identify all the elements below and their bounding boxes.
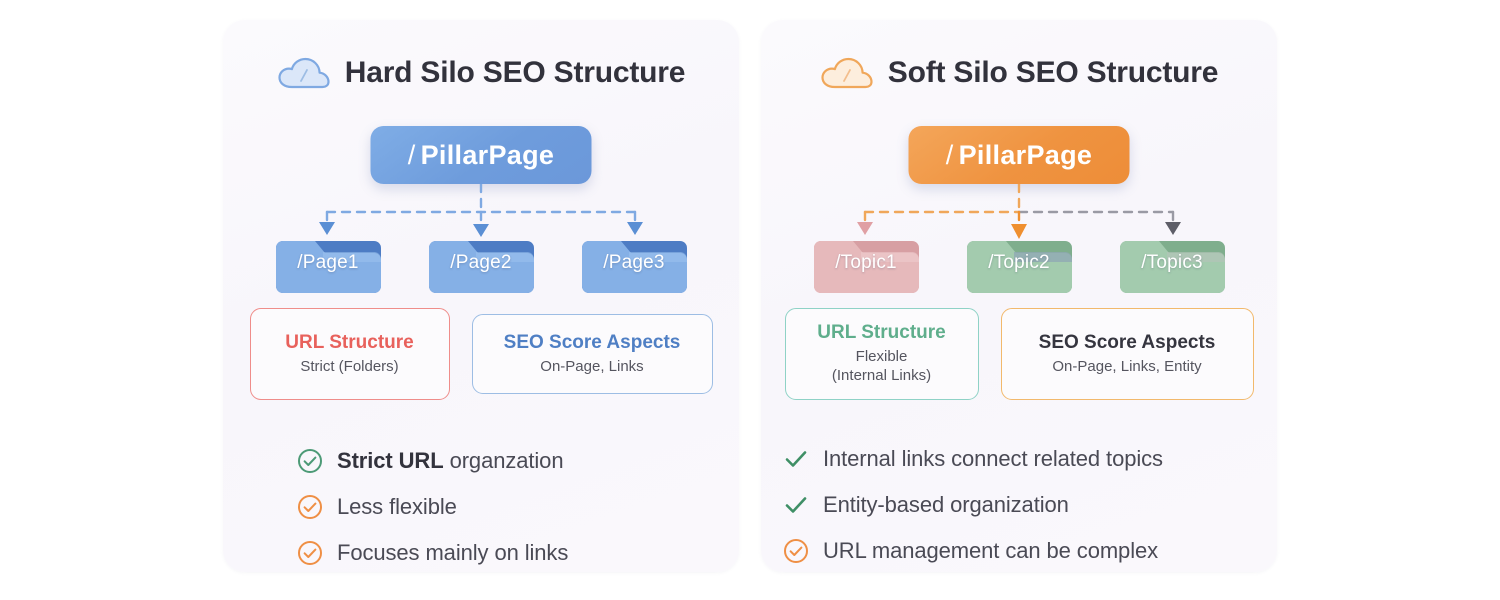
info-box-title: URL Structure xyxy=(285,332,413,354)
check-circle-orange-icon xyxy=(297,494,323,520)
info-box-url-structure: URL Structure Flexible (Internal Links) xyxy=(785,308,979,400)
panel-header: Hard Silo SEO Structure xyxy=(223,56,739,90)
check-green-icon xyxy=(783,492,809,518)
check-circle-green-icon xyxy=(297,448,323,474)
panel-title: Soft Silo SEO Structure xyxy=(888,56,1218,90)
info-box-title: SEO Score Aspects xyxy=(504,332,681,354)
check-green-icon xyxy=(783,446,809,472)
pillar-label: PillarPage xyxy=(959,140,1093,171)
folder-node[interactable]: /Page3 xyxy=(581,236,688,294)
info-box-subtitle: Strict (Folders) xyxy=(300,358,398,377)
bullet-item: Internal links connect related topics xyxy=(783,436,1277,482)
folder-node[interactable]: /Page1 xyxy=(275,236,382,294)
panel-title: Hard Silo SEO Structure xyxy=(345,56,685,90)
diagram-canvas: Hard Silo SEO Structure /PillarPage xyxy=(0,0,1500,600)
folder-row-soft: /Topic1 /Topic2 /Topic3 xyxy=(761,236,1277,294)
bullet-item: Less flexible xyxy=(297,484,739,530)
cloud-icon xyxy=(277,56,331,90)
folder-node[interactable]: /Topic2 xyxy=(966,236,1073,294)
info-box-seo-score: SEO Score Aspects On-Page, Links xyxy=(472,314,713,394)
panel-hard-silo: Hard Silo SEO Structure /PillarPage xyxy=(223,20,739,572)
pillar-page-node[interactable]: /PillarPage xyxy=(909,126,1130,184)
info-box-title: URL Structure xyxy=(817,322,945,344)
bullet-item: Strict URL organzation xyxy=(297,438,739,484)
bullet-text: Internal links connect related topics xyxy=(823,446,1163,472)
cloud-icon xyxy=(820,56,874,90)
panel-soft-silo: Soft Silo SEO Structure /PillarPage xyxy=(761,20,1277,572)
bullet-item: Focuses mainly on links xyxy=(297,530,739,576)
bullet-text: Entity-based organization xyxy=(823,492,1069,518)
panel-header: Soft Silo SEO Structure xyxy=(761,56,1277,90)
bullet-text: Less flexible xyxy=(337,494,457,520)
bullet-rest: organzation xyxy=(444,448,564,473)
bullet-text: Strict URL organzation xyxy=(337,448,563,474)
pillar-page-node[interactable]: /PillarPage xyxy=(371,126,592,184)
info-row-soft: URL Structure Flexible (Internal Links) … xyxy=(761,308,1277,400)
check-circle-orange-icon xyxy=(297,540,323,566)
pillar-label: PillarPage xyxy=(421,140,555,171)
bullet-item: URL management can be complex xyxy=(783,528,1277,574)
info-box-subtitle: Flexible (Internal Links) xyxy=(832,348,931,386)
folder-node[interactable]: /Page2 xyxy=(428,236,535,294)
check-circle-orange-icon xyxy=(783,538,809,564)
bullet-item: Entity-based organization xyxy=(783,482,1277,528)
folder-node[interactable]: /Topic3 xyxy=(1119,236,1226,294)
info-box-url-structure: URL Structure Strict (Folders) xyxy=(250,308,450,400)
bullet-list-soft: Internal links connect related topics En… xyxy=(761,436,1277,574)
info-row-hard: URL Structure Strict (Folders) SEO Score… xyxy=(223,308,739,400)
pillar-slash: / xyxy=(408,140,416,171)
info-box-seo-score: SEO Score Aspects On-Page, Links, Entity xyxy=(1001,308,1254,400)
bullet-text: Focuses mainly on links xyxy=(337,540,568,566)
info-box-subtitle: On-Page, Links, Entity xyxy=(1052,358,1201,377)
folder-node[interactable]: /Topic1 xyxy=(813,236,920,294)
bullet-text: URL management can be complex xyxy=(823,538,1158,564)
info-box-title: SEO Score Aspects xyxy=(1039,332,1216,354)
folder-row-hard: /Page1 /Page2 /Page3 xyxy=(223,236,739,294)
bullet-list-hard: Strict URL organzation Less flexible xyxy=(223,438,739,576)
bullet-strong: Strict URL xyxy=(337,448,444,473)
pillar-slash: / xyxy=(946,140,954,171)
info-box-subtitle: On-Page, Links xyxy=(540,358,643,377)
